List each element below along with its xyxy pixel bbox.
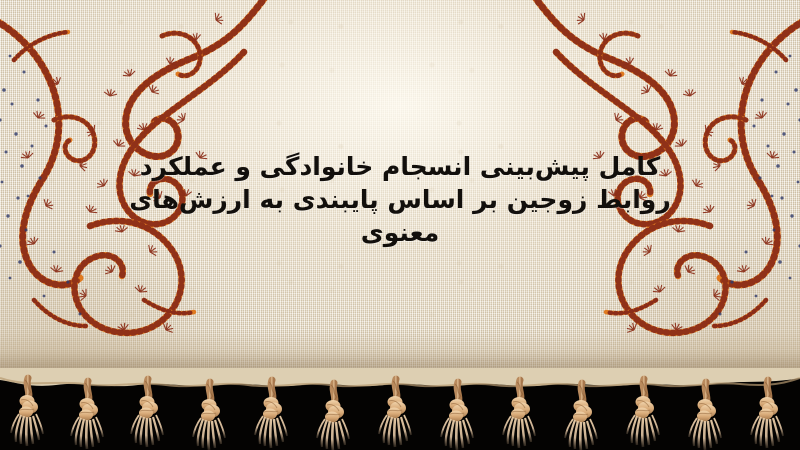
slide-title: کامل پیش‌بینی انسجام خانوادگی و عملکرد ر… <box>0 150 800 249</box>
title-line-2: روابط زوجین بر اساس پایبندی به ارزش‌های <box>0 183 800 216</box>
title-slide: کامل پیش‌بینی انسجام خانوادگی و عملکرد ر… <box>0 0 800 450</box>
title-line-1: کامل پیش‌بینی انسجام خانوادگی و عملکرد <box>0 150 800 183</box>
title-line-3: معنوی <box>0 216 800 249</box>
tassel-fringe <box>0 368 800 450</box>
